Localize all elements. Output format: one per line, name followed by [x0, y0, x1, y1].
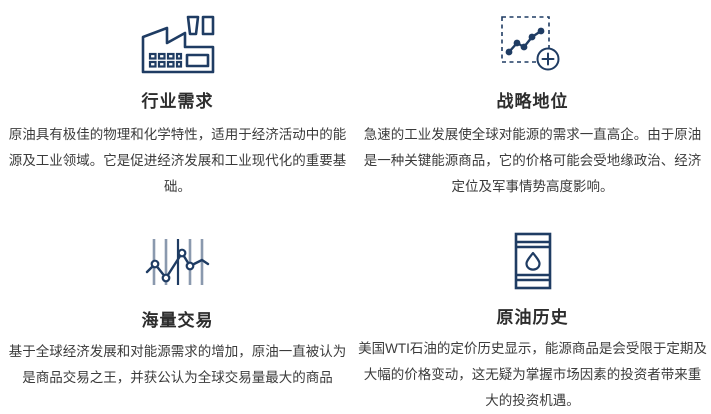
card-title: 海量交易: [142, 311, 214, 331]
feature-card-oil-history: 原油历史 美国WTI石油的定价历史显示，能源商品是会受限于定期及大幅的价格变动，…: [355, 207, 710, 414]
volume-chart-icon: [145, 227, 211, 299]
card-description: 急速的工业发展使全球对能源的需求一直高企。由于原油是一种关键能源商品，它的价格可…: [358, 122, 707, 200]
feature-card-trading-volume: 海量交易 基于全球经济发展和对能源需求的增加，原油一直被认为是商品交易之王，并获…: [0, 207, 355, 414]
card-title: 战略地位: [497, 92, 569, 112]
factory-icon: [140, 4, 216, 84]
card-description: 美国WTI石油的定价历史显示，能源商品是会受限于定期及大幅的价格变动，这无疑为掌…: [358, 336, 707, 414]
card-description: 原油具有极佳的物理和化学特性，适用于经济活动中的能源及工业领域。它是促进经济发展…: [3, 122, 352, 200]
oil-barrel-icon: [509, 227, 557, 296]
feature-card-industry-demand: 行业需求 原油具有极佳的物理和化学特性，适用于经济活动中的能源及工业领域。它是促…: [0, 0, 355, 207]
growth-chart-add-icon: [500, 4, 566, 84]
card-title: 原油历史: [497, 308, 569, 328]
card-title: 行业需求: [142, 92, 214, 112]
feature-grid: 行业需求 原油具有极佳的物理和化学特性，适用于经济活动中的能源及工业领域。它是促…: [0, 0, 711, 414]
card-description: 基于全球经济发展和对能源需求的增加，原油一直被认为是商品交易之王，并获公认为全球…: [3, 339, 352, 391]
feature-card-strategic-position: 战略地位 急速的工业发展使全球对能源的需求一直高企。由于原油是一种关键能源商品，…: [355, 0, 710, 207]
